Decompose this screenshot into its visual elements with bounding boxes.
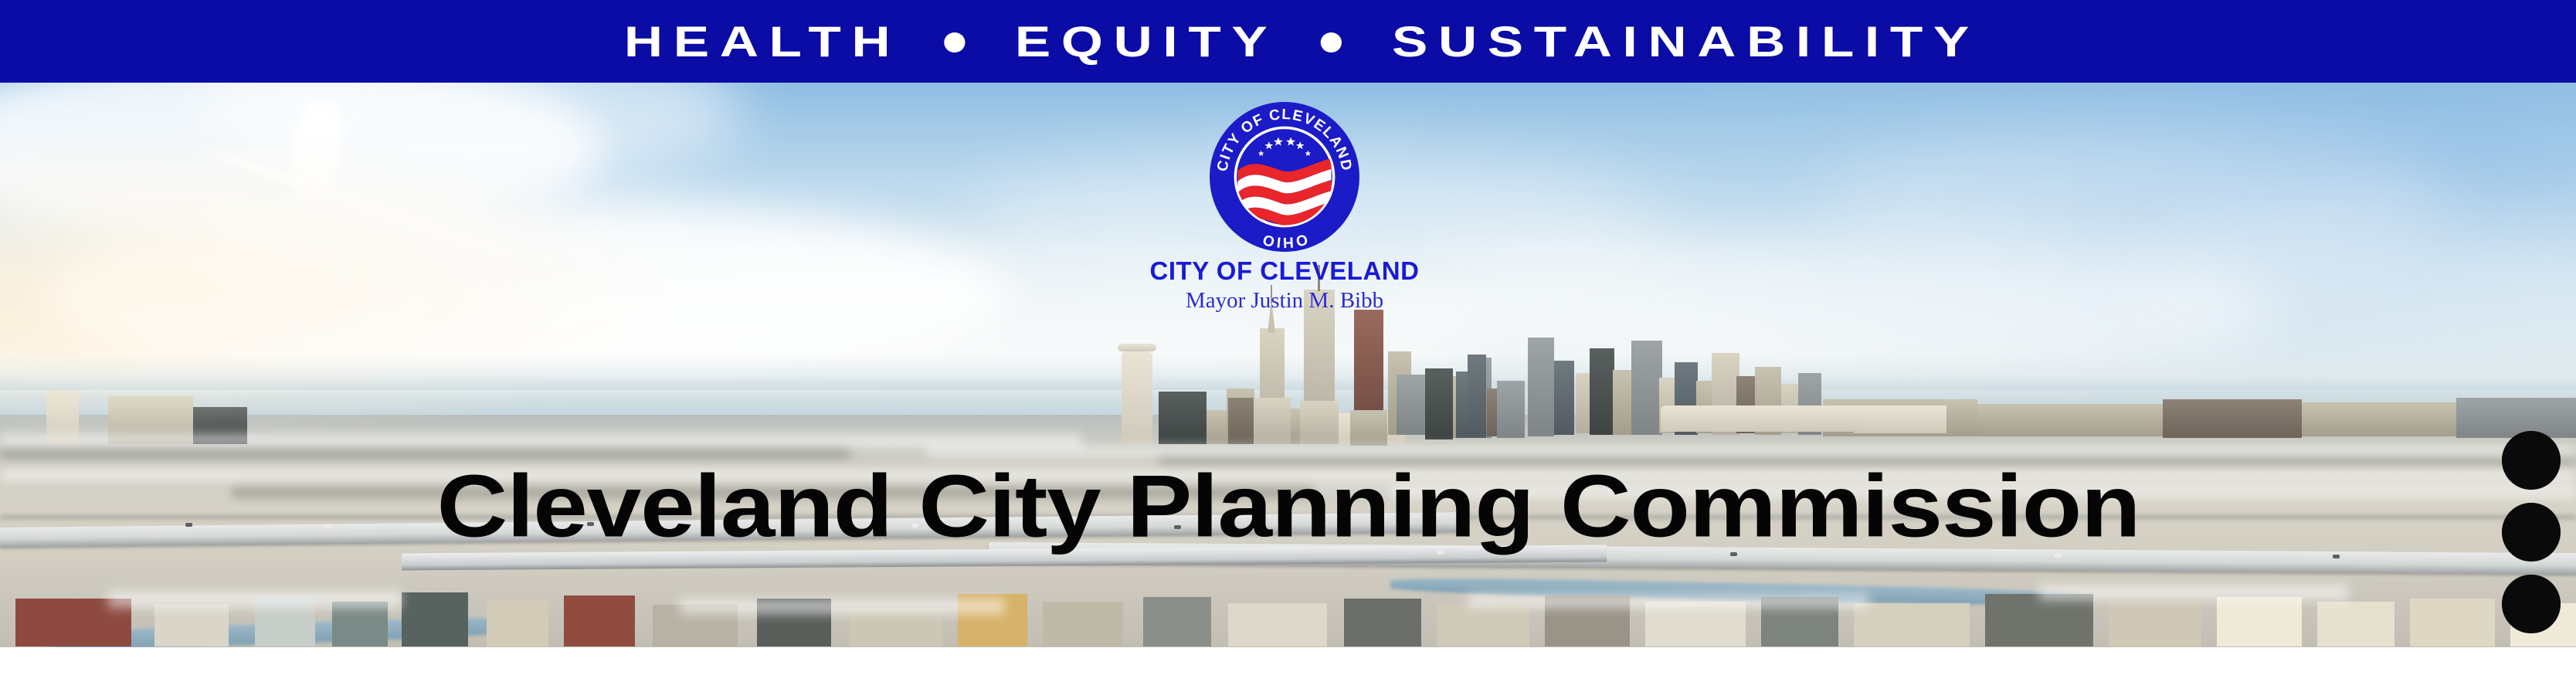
logo-title: CITY OF CLEVELAND: [1084, 258, 1485, 285]
facebook-icon: [2502, 575, 2561, 633]
youtube-icon: [2502, 431, 2561, 490]
tagline-word-health: HEALTH: [624, 20, 901, 63]
page-title: Cleveland City Planning Commission: [565, 462, 2012, 545]
tagline-banner: HEALTH EQUITY SUSTAINABILITY: [0, 0, 2576, 83]
instagram-link[interactable]: [2502, 503, 2561, 562]
youtube-link[interactable]: [2502, 431, 2561, 490]
instagram-icon: [2502, 503, 2561, 562]
tagline-word-equity: EQUITY: [1015, 20, 1278, 63]
page-root: HEALTH EQUITY SUSTAINABILITY: [0, 0, 2576, 682]
logo-subtitle: Mayor Justin M. Bibb: [1084, 289, 1485, 312]
social-links-rail: [2502, 431, 2561, 633]
facebook-link[interactable]: [2502, 575, 2561, 633]
tagline-separator-dot-2: [1321, 32, 1342, 53]
city-of-cleveland-logo[interactable]: CITY OF CLEVELAND OHIO: [1084, 99, 1485, 312]
tagline-word-sustainability: SUSTAINABILITY: [1392, 20, 1980, 63]
tagline-separator-dot-1: [944, 32, 965, 53]
tagline-inner: HEALTH EQUITY SUSTAINABILITY: [624, 20, 1980, 63]
city-of-cleveland-seal-icon: CITY OF CLEVELAND OHIO: [1207, 99, 1363, 255]
page-title-text: Cleveland City Planning Commission: [437, 462, 2140, 550]
